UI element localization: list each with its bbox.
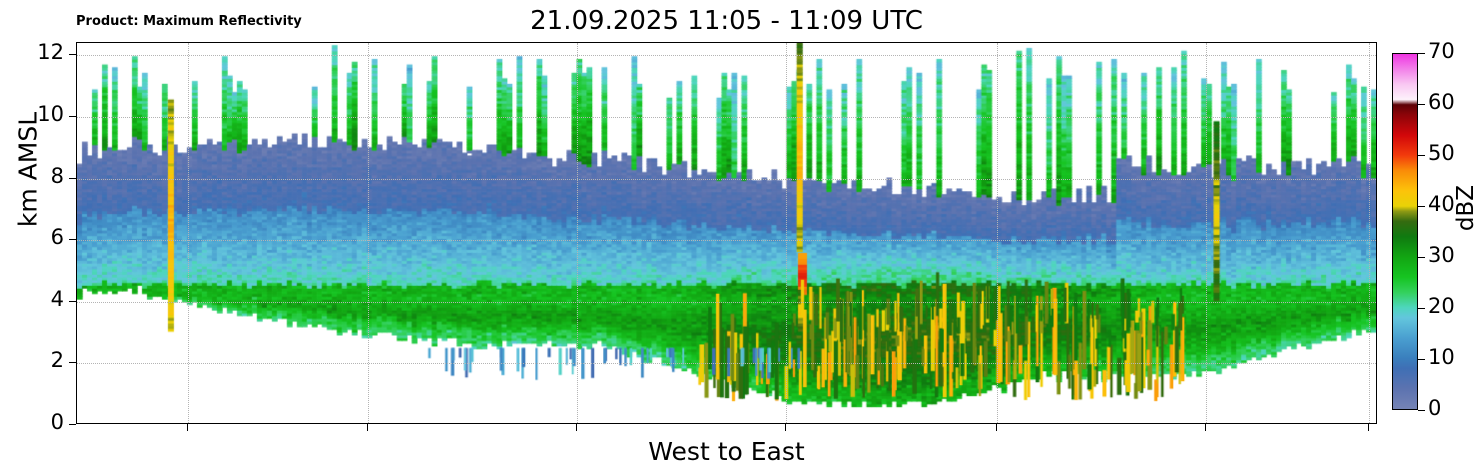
x-axis-tick	[187, 424, 188, 431]
colorbar-gradient	[1392, 53, 1418, 410]
colorbar-tick	[1418, 308, 1425, 309]
colorbar-tick-label: 30	[1428, 243, 1455, 267]
colorbar-tick	[1418, 206, 1425, 207]
colorbar-tick-label: 40	[1428, 192, 1455, 216]
colorbar-tick	[1418, 359, 1425, 360]
y-axis-tick	[69, 116, 76, 117]
product-label: Product: Maximum Reflectivity	[76, 14, 302, 29]
colorbar-tick	[1418, 104, 1425, 105]
y-axis-tick	[69, 178, 76, 179]
y-axis-tick-label: 4	[22, 287, 64, 311]
y-axis-tick	[69, 54, 76, 55]
colorbar-tick-label: 50	[1428, 141, 1455, 165]
colorbar-tick-label: 10	[1428, 345, 1455, 369]
radar-cross-section-figure: 21.09.2025 11:05 - 11:09 UTC Product: Ma…	[0, 0, 1482, 470]
y-axis-tick	[69, 362, 76, 363]
colorbar-unit-label: dBZ	[1453, 148, 1479, 268]
x-axis-tick	[785, 424, 786, 431]
colorbar-tick	[1418, 53, 1425, 54]
colorbar-tick	[1418, 257, 1425, 258]
reflectivity-heatmap	[77, 43, 1376, 423]
x-axis-label: West to East	[76, 437, 1377, 466]
y-axis-tick-label: 2	[22, 348, 64, 372]
colorbar-tick-label: 60	[1428, 90, 1455, 114]
x-axis-tick	[367, 424, 368, 431]
colorbar-tick-label: 20	[1428, 294, 1455, 318]
colorbar-tick	[1418, 410, 1425, 411]
y-axis-tick-label: 0	[22, 410, 64, 434]
y-axis-tick-label: 12	[22, 40, 64, 64]
plot-area[interactable]	[76, 42, 1377, 424]
x-axis-tick	[996, 424, 997, 431]
y-axis-tick	[69, 239, 76, 240]
colorbar-tick	[1418, 155, 1425, 156]
y-axis-tick	[69, 301, 76, 302]
x-axis-tick	[1205, 424, 1206, 431]
y-axis-label: km AMSL	[14, 90, 43, 250]
colorbar-tick-label: 0	[1428, 396, 1441, 420]
colorbar-tick-label: 70	[1428, 39, 1455, 63]
x-axis-tick	[576, 424, 577, 431]
x-axis-tick	[1368, 424, 1369, 431]
y-axis-tick	[69, 424, 76, 425]
colorbar	[1392, 53, 1418, 410]
